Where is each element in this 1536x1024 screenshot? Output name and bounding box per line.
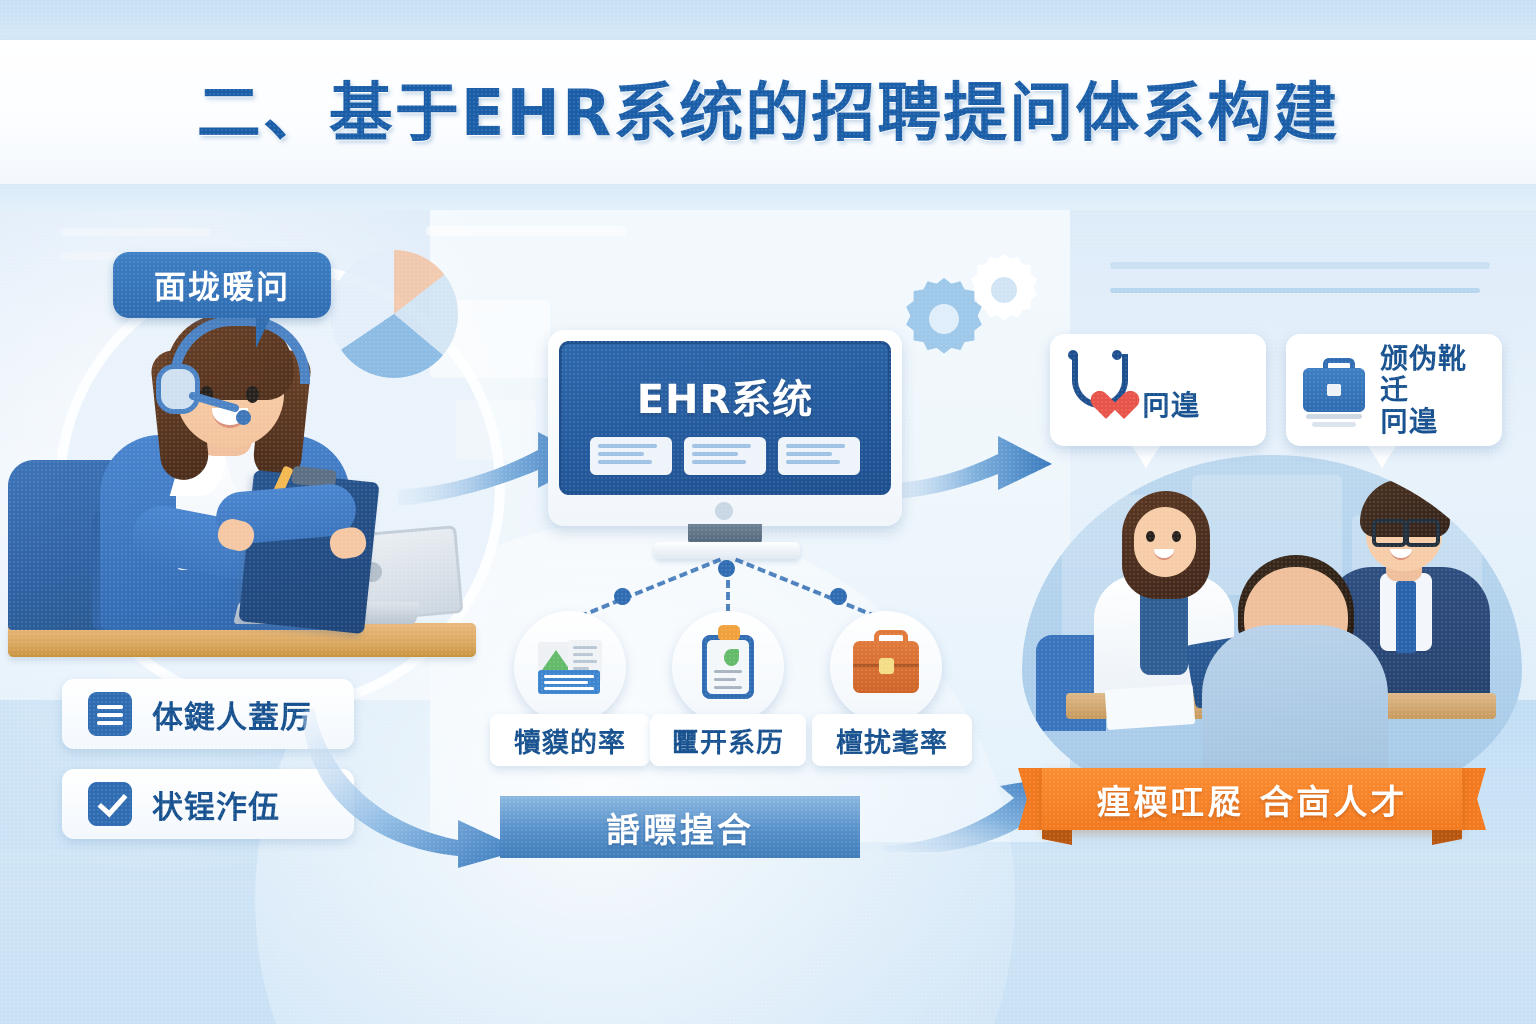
right-bubble-1[interactable]: 𦟵䐗的夫 冋遑 — [1050, 334, 1266, 446]
right-bubble-1-tail — [1132, 446, 1160, 468]
monitor-title: EHR系统 — [637, 367, 814, 425]
right-bubble-2-line1: 颁伪靴迁 — [1380, 343, 1486, 406]
pie-chart-decor — [330, 250, 458, 378]
node-label-3-text: 檀扰耄率 — [836, 721, 948, 760]
header-underband — [0, 184, 1536, 210]
list-icon — [88, 692, 132, 736]
right-bubble-2-tail — [1368, 446, 1396, 468]
deco-rect-2 — [426, 226, 626, 236]
female-eye-right — [1172, 531, 1181, 542]
right-bubble-1-line1: 𦟵䐗的夫 — [1142, 359, 1200, 390]
interview-illustration — [1022, 455, 1522, 815]
interview-paper — [1105, 684, 1196, 730]
left-card-2-label: 状锃泎伍 — [152, 782, 280, 827]
right-bubble-1-text: 𦟵䐗的夫 冋遑 — [1142, 359, 1200, 422]
node-icon-circle-3[interactable] — [830, 611, 942, 723]
deco-line-1 — [1110, 262, 1490, 269]
connector-dot-center — [718, 560, 735, 577]
briefcase-icon — [853, 641, 919, 693]
glasses-right-lens-icon — [1405, 519, 1440, 547]
node-label-1[interactable]: 犢貘的率 — [490, 714, 650, 766]
monitor-tile-2 — [684, 437, 766, 475]
interviewer-female-face — [1134, 507, 1196, 577]
monitor-power-dot — [715, 502, 733, 520]
node-icon-circle-1[interactable] — [514, 611, 626, 723]
glasses-left-lens-icon — [1372, 519, 1407, 547]
interviewer-male-tie — [1396, 581, 1416, 653]
deco-line-2 — [1110, 288, 1480, 293]
node-icon-circle-2[interactable] — [672, 611, 784, 723]
node-label-3[interactable]: 檀扰耄率 — [812, 714, 972, 766]
left-card-1-label: 体鍵人蓋厉 — [152, 692, 312, 737]
deco-rect-3 — [60, 228, 210, 236]
left-speech-bubble[interactable]: 面垅暖问 — [113, 252, 331, 318]
node-label-1-text: 犢貘的率 — [514, 721, 626, 760]
result-ribbon: 㾖㮕叿㞞 合㐭人才 — [1042, 768, 1462, 830]
monitor-tile-3 — [778, 437, 860, 475]
flow-banner: 䛡㬓揘合 — [500, 796, 860, 858]
monitor-tiles — [590, 437, 860, 475]
ehr-monitor[interactable]: EHR系统 — [548, 330, 902, 568]
resume-document-icon — [538, 640, 602, 694]
stethoscope-heart-icon — [1066, 354, 1128, 426]
page-title: 二、基于EHR系统的招聘提问体系构建 — [0, 62, 1536, 154]
monitor-body: EHR系统 — [548, 330, 902, 526]
speech-bubble-tail — [256, 314, 286, 348]
headset-mic-tip — [236, 410, 251, 425]
eye-right — [246, 386, 259, 403]
flow-banner-label: 䛡㬓揘合 — [606, 803, 754, 852]
infographic-canvas: 二、基于EHR系统的招聘提问体系构建 — [0, 0, 1536, 1024]
node-label-2-text: 匷开系历 — [672, 721, 784, 760]
clipboard-checklist-icon — [702, 635, 754, 699]
briefcase-blue-icon — [1302, 354, 1366, 426]
top-strip — [0, 0, 1536, 42]
right-bubble-2[interactable]: 颁伪靴迁 冋遑 — [1286, 334, 1502, 446]
monitor-tile-1 — [590, 437, 672, 475]
left-speech-bubble-label: 面垅暖问 — [154, 262, 290, 308]
check-icon — [88, 782, 132, 826]
node-label-2[interactable]: 匷开系历 — [650, 714, 806, 766]
headset-earcup-icon — [156, 364, 200, 414]
right-bubble-1-line2: 冋遑 — [1142, 390, 1200, 421]
monitor-screen: EHR系统 — [559, 341, 891, 495]
result-ribbon-label: 㾖㮕叿㞞 合㐭人才 — [1097, 775, 1408, 824]
connector-dot-right — [830, 588, 847, 605]
monitor-stand-base — [654, 542, 800, 559]
connector-dot-left — [614, 588, 631, 605]
right-bubble-2-text: 颁伪靴迁 冋遑 — [1380, 343, 1486, 437]
right-bubble-2-line2: 冋遑 — [1380, 406, 1486, 437]
female-eye-left — [1146, 531, 1155, 542]
